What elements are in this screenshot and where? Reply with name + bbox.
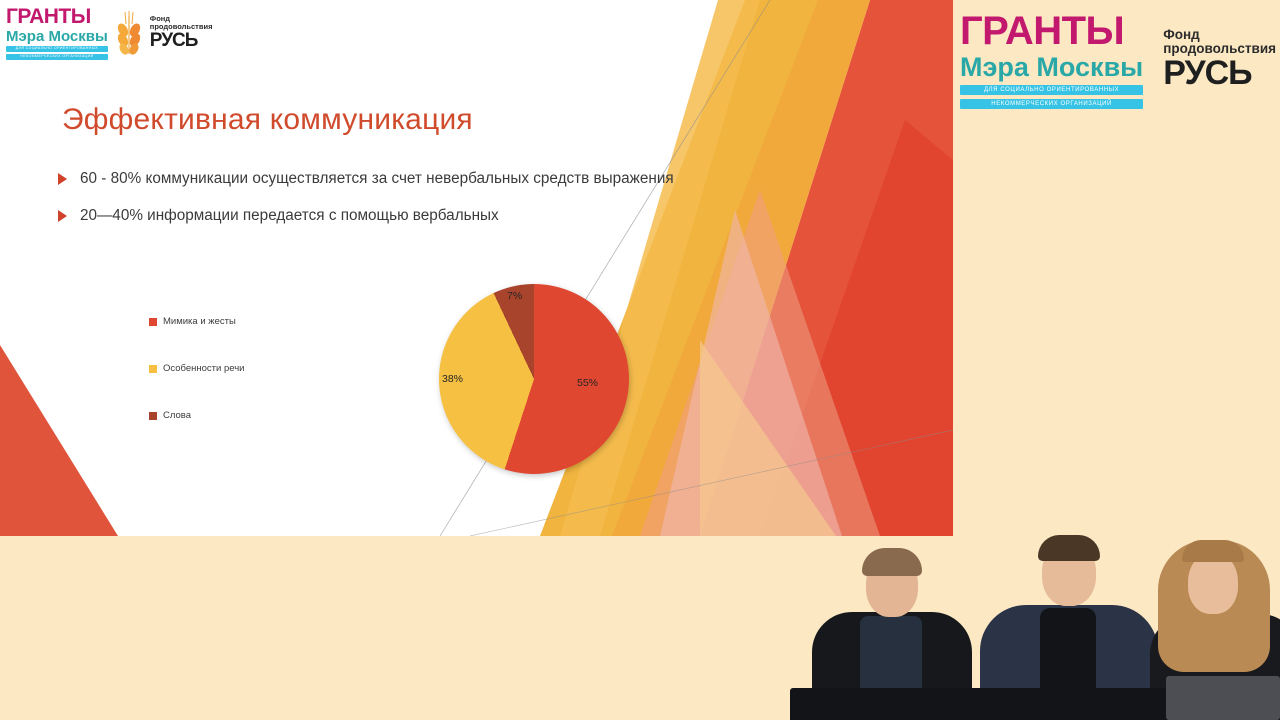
- triangle-bullet-icon: [58, 173, 67, 185]
- sponsor-logo-large: ГРАНТЫ Мэра Москвы ДЛЯ СОЦИАЛЬНО ОРИЕНТИ…: [960, 14, 1270, 106]
- chart-legend: Мимика и жесты Особенности речи Слова: [149, 298, 244, 439]
- granty-badge-line2: НЕКОММЕРЧЕСКИХ ОРГАНИЗАЦИЙ: [960, 99, 1143, 109]
- webinar-screen: Эффективная коммуникация 60 - 80% коммун…: [0, 0, 1280, 720]
- legend-label: Слова: [163, 410, 191, 421]
- fund-logo-mark: Фонд продовольствия РУСЬ: [150, 15, 213, 51]
- list-item: 20—40% информации передается с помощью в…: [58, 205, 688, 227]
- fund-name: РУСЬ: [1163, 56, 1276, 92]
- pie-value-label: 7%: [507, 290, 522, 302]
- granty-logo-mark: ГРАНТЫ Мэра Москвы ДЛЯ СОЦИАЛЬНО ОРИЕНТИ…: [6, 6, 108, 59]
- legend-item: Особенности речи: [149, 345, 244, 392]
- fund-logo-mark: Фонд продовольствия РУСЬ: [1163, 28, 1276, 92]
- wheat-icon: [116, 10, 142, 56]
- legend-item: Мимика и жесты: [149, 298, 244, 345]
- moscow-word: Мэра Москвы: [6, 29, 108, 44]
- shared-slide: Эффективная коммуникация 60 - 80% коммун…: [0, 0, 953, 536]
- page-title: Эффективная коммуникация: [62, 103, 473, 137]
- bullet-text: 20—40% информации передается с помощью в…: [80, 205, 499, 227]
- pie-value-label: 38%: [442, 373, 463, 385]
- moscow-word: Мэра Москвы: [960, 54, 1143, 81]
- pie-value-label: 55%: [577, 377, 598, 389]
- pie-disc: [439, 284, 629, 474]
- fund-name: РУСЬ: [150, 31, 213, 51]
- sponsor-logo-small: ГРАНТЫ Мэра Москвы ДЛЯ СОЦИАЛЬНО ОРИЕНТИ…: [6, 2, 226, 64]
- granty-badge-line1: ДЛЯ СОЦИАЛЬНО ОРИЕНТИРОВАННЫХ: [960, 85, 1143, 95]
- legend-item: Слова: [149, 392, 244, 439]
- triangle-bullet-icon: [58, 210, 67, 222]
- granty-word: ГРАНТЫ: [960, 11, 1143, 51]
- granty-badge-line1: ДЛЯ СОЦИАЛЬНО ОРИЕНТИРОВАННЫХ: [6, 46, 108, 52]
- list-item: 60 - 80% коммуникации осуществляется за …: [58, 168, 688, 190]
- bullet-list: 60 - 80% коммуникации осуществляется за …: [58, 168, 688, 241]
- laptop: [1166, 676, 1280, 720]
- granty-word: ГРАНТЫ: [6, 6, 108, 27]
- pie-chart: 55% 38% 7%: [439, 284, 629, 474]
- legend-swatch-icon: [149, 412, 157, 420]
- legend-swatch-icon: [149, 365, 157, 373]
- granty-badge-line2: НЕКОММЕРЧЕСКИХ ОРГАНИЗАЦИЙ: [6, 54, 108, 60]
- legend-label: Особенности речи: [163, 363, 244, 374]
- bullet-text: 60 - 80% коммуникации осуществляется за …: [80, 168, 674, 190]
- legend-swatch-icon: [149, 318, 157, 326]
- fund-line-1: Фонд: [1163, 28, 1276, 42]
- granty-logo-mark: ГРАНТЫ Мэра Москвы ДЛЯ СОЦИАЛЬНО ОРИЕНТИ…: [960, 11, 1143, 109]
- legend-label: Мимика и жесты: [163, 316, 236, 327]
